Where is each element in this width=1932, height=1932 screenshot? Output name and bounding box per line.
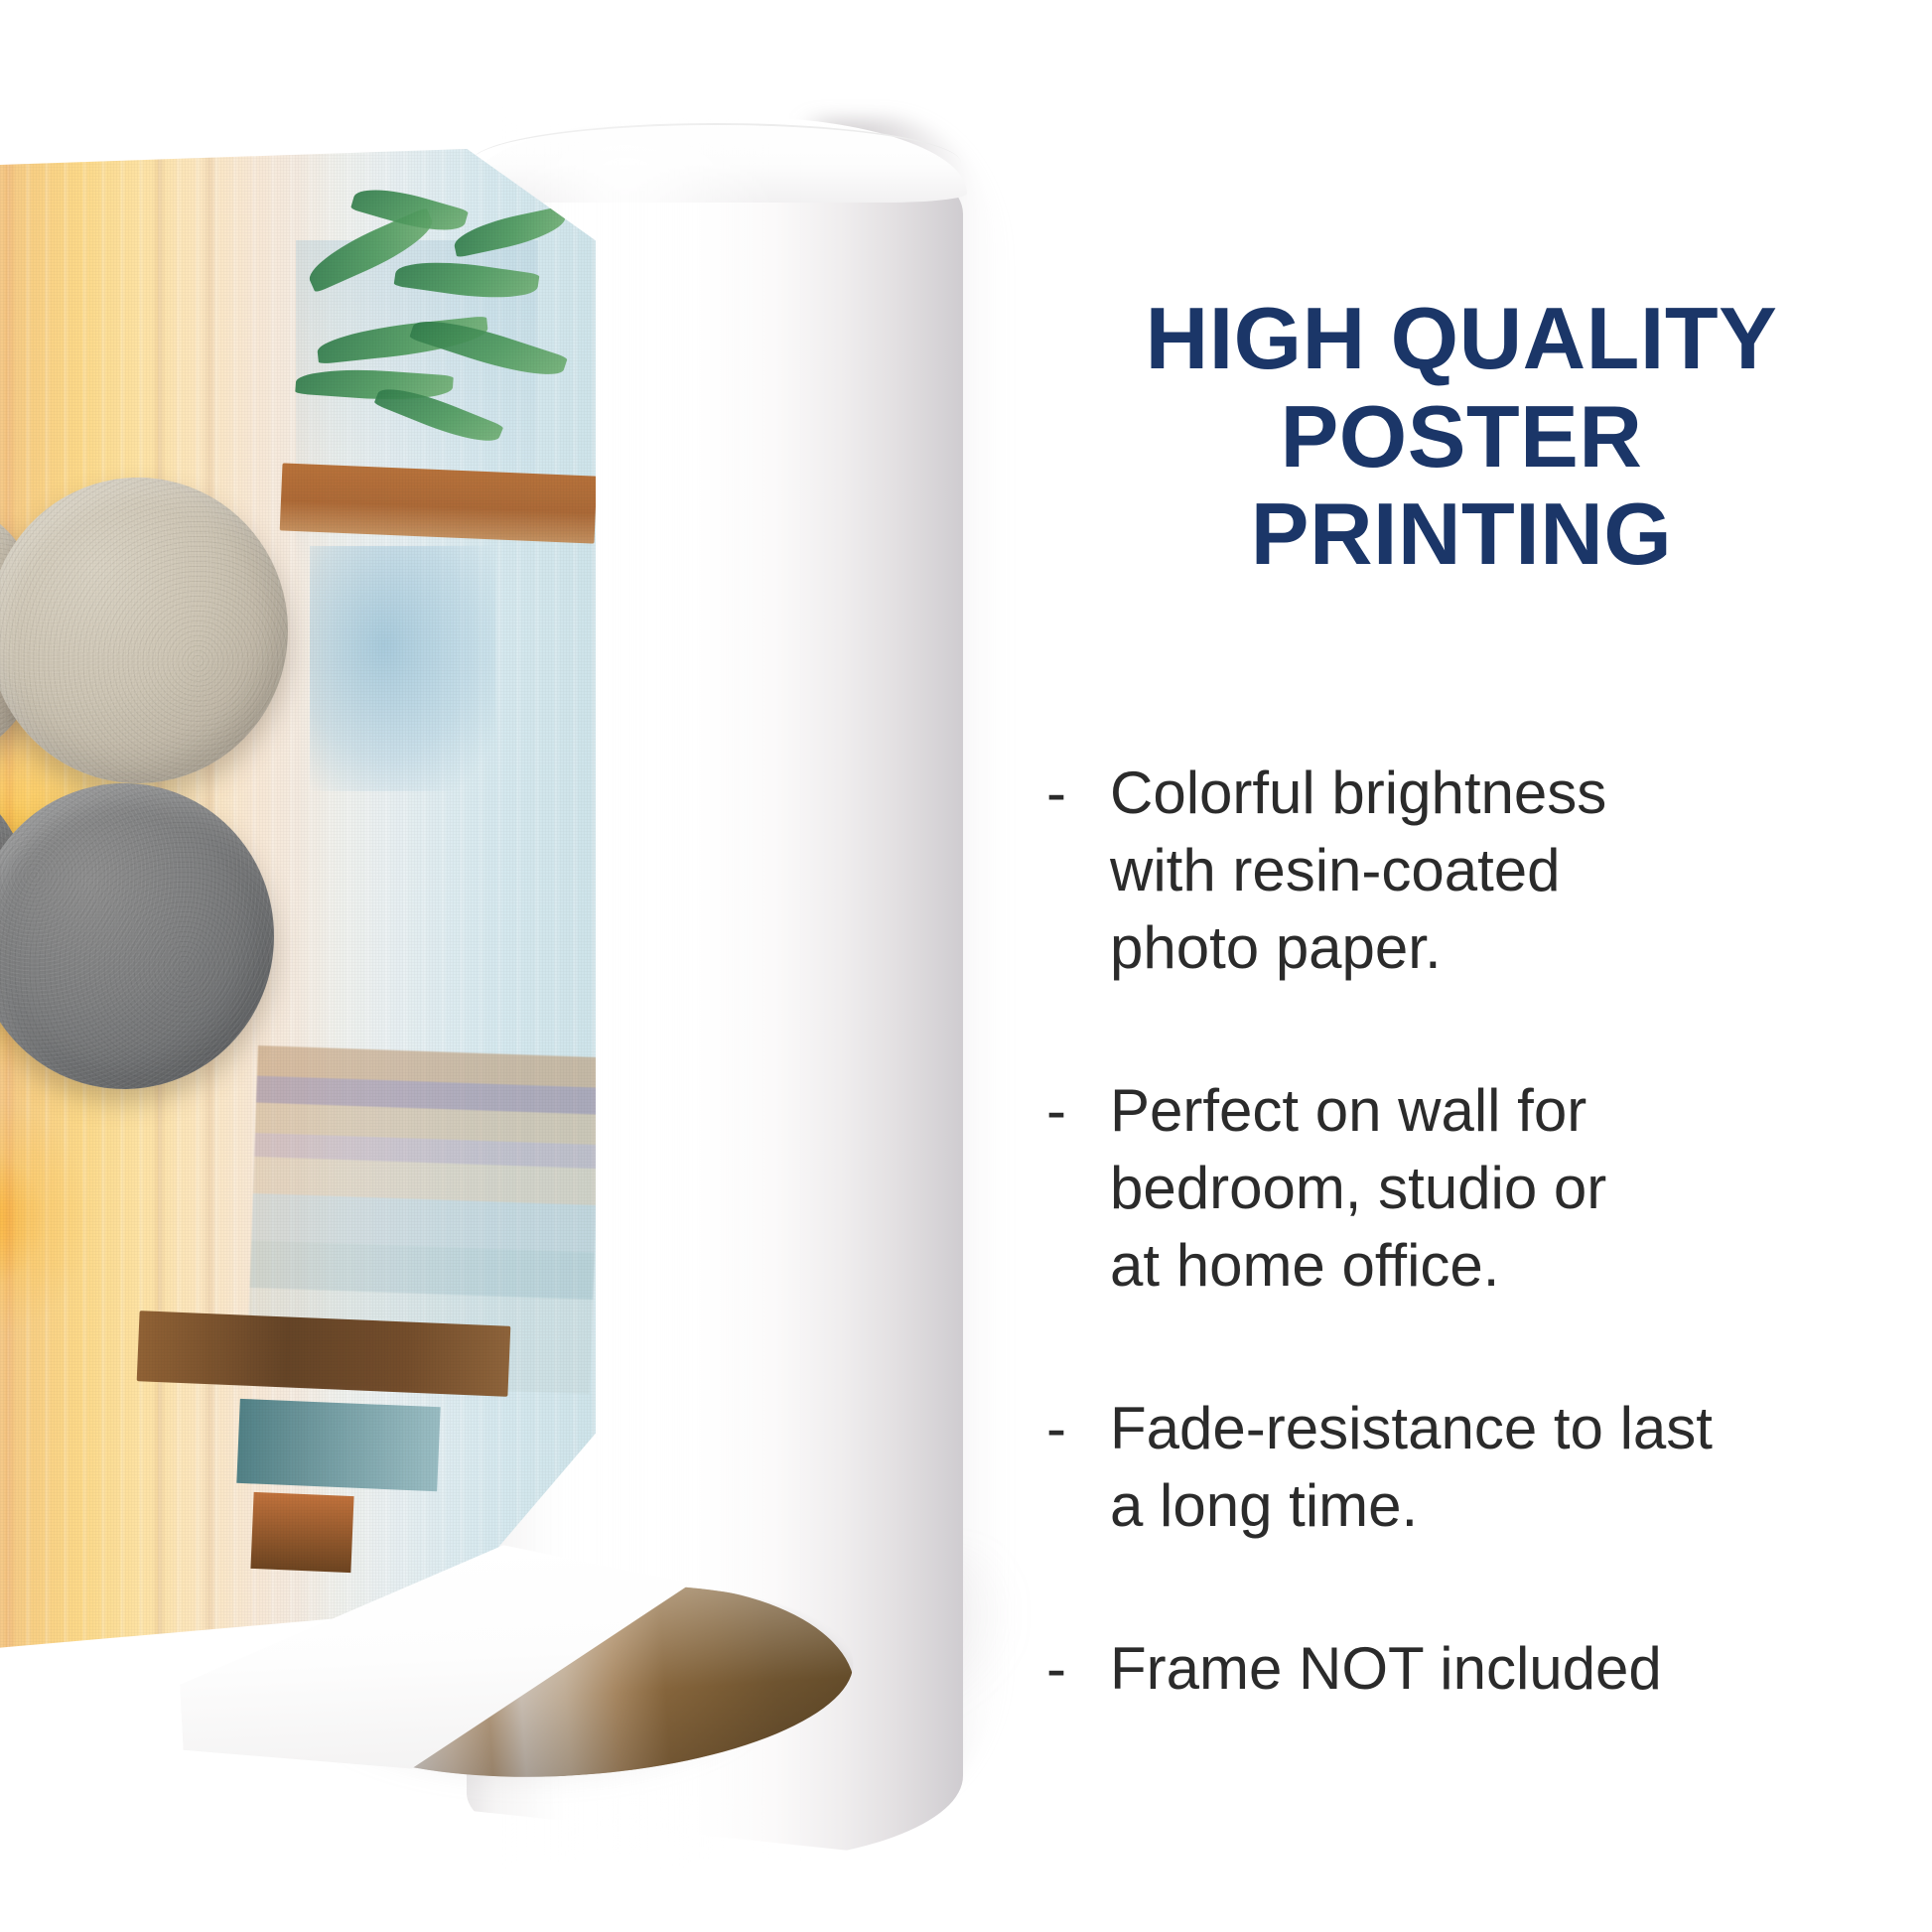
marketing-copy-panel: HIGH QUALITY POSTER PRINTING - Colorful … [993, 0, 1932, 1932]
feature-text-3: Fade-resistance to last a long time. [1110, 1390, 1932, 1545]
feature-list: - Colorful brightness with resin-coated … [1040, 755, 1932, 1708]
poster-printed-face [0, 149, 596, 1678]
list-item: - Colorful brightness with resin-coated … [1040, 755, 1932, 987]
product-listing-image: HIGH QUALITY POSTER PRINTING - Colorful … [0, 0, 1932, 1932]
feature-text-2: Perfect on wall for bedroom, studio or a… [1110, 1072, 1932, 1305]
list-item: - Fade-resistance to last a long time. [1040, 1390, 1932, 1545]
list-item: - Frame NOT included [1040, 1630, 1932, 1708]
page-title: HIGH QUALITY POSTER PRINTING [1007, 290, 1916, 584]
feature-text-1: Colorful brightness with resin-coated ph… [1110, 755, 1932, 987]
bullet-dash-icon: - [1040, 1390, 1110, 1467]
headline-line-2: POSTER [1007, 388, 1916, 486]
paper-grain-texture [0, 149, 596, 1678]
headline-line-3: PRINTING [1007, 485, 1916, 584]
bullet-dash-icon: - [1040, 1072, 1110, 1150]
headline-line-1: HIGH QUALITY [1007, 290, 1916, 388]
bullet-dash-icon: - [1040, 755, 1110, 832]
bullet-dash-icon: - [1040, 1630, 1110, 1708]
poster-roll-photo [0, 0, 993, 1932]
list-item: - Perfect on wall for bedroom, studio or… [1040, 1072, 1932, 1305]
feature-text-4: Frame NOT included [1110, 1630, 1932, 1708]
